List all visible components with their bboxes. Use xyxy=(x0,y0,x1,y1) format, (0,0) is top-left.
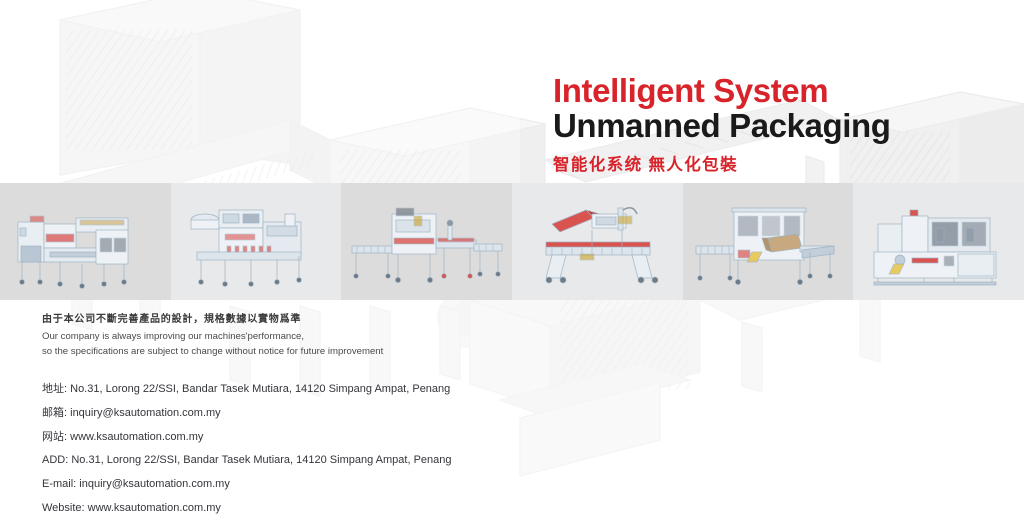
headline-primary: Intelligent System xyxy=(553,74,993,109)
sleeve-sealer-shrink-tunnel-icon xyxy=(181,194,331,290)
website-label-chinese: 网站: xyxy=(42,431,67,443)
email-value-english[interactable]: inquiry@ksautomation.com.my xyxy=(79,478,230,490)
machine-panel-case-erector-packer[interactable] xyxy=(683,183,854,300)
address-label-english: ADD: xyxy=(42,454,68,466)
contact-address-row-english: ADD: No.31, Lorong 22/SSI, Bandar Tasek … xyxy=(42,448,452,472)
website-value-english[interactable]: www.ksautomation.com.my xyxy=(88,502,221,514)
contact-block-english: ADD: No.31, Lorong 22/SSI, Bandar Tasek … xyxy=(42,448,452,521)
machine-photo-strip xyxy=(0,183,1024,300)
poster-page: Intelligent System Unmanned Packaging 智能… xyxy=(0,0,1024,531)
address-value-chinese: No.31, Lorong 22/SSI, Bandar Tasek Mutia… xyxy=(70,383,450,395)
email-value-chinese[interactable]: inquiry@ksautomation.com.my xyxy=(70,407,221,419)
contact-website-row-chinese[interactable]: 网站: www.ksautomation.com.my xyxy=(42,425,450,449)
machine-panel-automatic-case-packer[interactable] xyxy=(853,183,1024,300)
contact-address-row-chinese: 地址: No.31, Lorong 22/SSI, Bandar Tasek M… xyxy=(42,377,450,401)
website-value-chinese[interactable]: www.ksautomation.com.my xyxy=(70,431,203,443)
email-label-english: E-mail: xyxy=(42,478,76,490)
automatic-carton-sealer-line-icon xyxy=(348,194,506,290)
disclaimer-english-line2: so the specifications are subject to cha… xyxy=(42,344,383,360)
email-label-chinese: 邮箱: xyxy=(42,407,67,419)
semi-auto-carton-sealer-icon xyxy=(522,194,672,290)
address-label-chinese: 地址: xyxy=(42,383,67,395)
contact-email-row-chinese[interactable]: 邮箱: inquiry@ksautomation.com.my xyxy=(42,401,450,425)
disclaimer-block: 由于本公司不斷完善產品的設計，規格數據以實物爲準 Our company is … xyxy=(42,312,383,360)
machine-panel-semi-auto-carton-sealer[interactable] xyxy=(512,183,683,300)
machine-panel-sleeve-sealer-shrink-tunnel[interactable] xyxy=(171,183,342,300)
headline-secondary: Unmanned Packaging xyxy=(553,109,993,144)
contact-email-row-english[interactable]: E-mail: inquiry@ksautomation.com.my xyxy=(42,472,452,496)
address-value-english: No.31, Lorong 22/SSI, Bandar Tasek Mutia… xyxy=(71,454,451,466)
side-seal-shrink-wrapper-icon xyxy=(10,194,160,290)
headline-block: Intelligent System Unmanned Packaging 智能… xyxy=(553,74,993,175)
machine-panel-automatic-carton-sealer-line[interactable] xyxy=(341,183,512,300)
automatic-case-packer-icon xyxy=(864,194,1014,290)
disclaimer-chinese: 由于本公司不斷完善產品的設計，規格數據以實物爲準 xyxy=(42,312,383,329)
contact-website-row-english[interactable]: Website: www.ksautomation.com.my xyxy=(42,496,452,520)
website-label-english: Website: xyxy=(42,502,85,514)
case-erector-packer-icon xyxy=(690,194,846,290)
disclaimer-english-line1: Our company is always improving our mach… xyxy=(42,329,383,345)
headline-chinese: 智能化系统 無人化包裝 xyxy=(553,151,993,175)
contact-block-chinese: 地址: No.31, Lorong 22/SSI, Bandar Tasek M… xyxy=(42,377,450,450)
machine-panel-side-seal-shrink-wrapper[interactable] xyxy=(0,183,171,300)
hero-banner: Intelligent System Unmanned Packaging 智能… xyxy=(0,0,1024,183)
